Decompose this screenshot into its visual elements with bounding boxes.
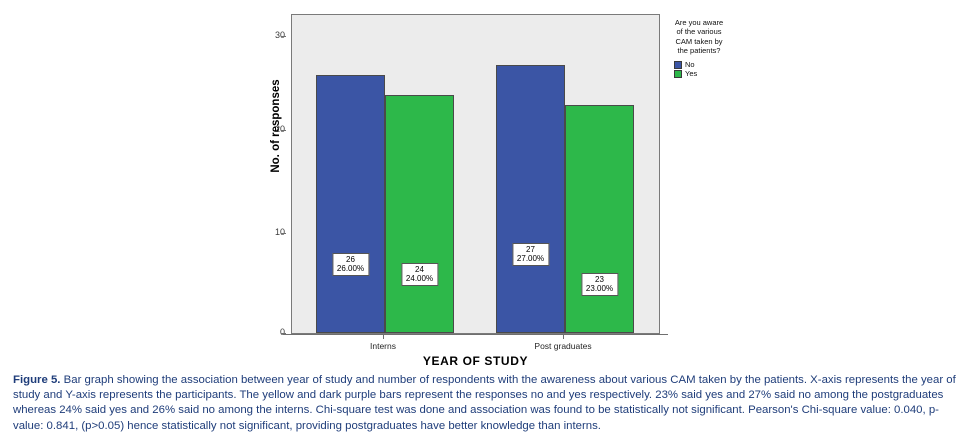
legend-item-yes[interactable]: Yes: [674, 70, 732, 78]
legend-swatch-yes-icon: [674, 70, 682, 78]
y-tick-label-30: 30: [251, 31, 285, 40]
legend-label-yes: Yes: [685, 70, 697, 78]
y-tick-mark-10: [281, 233, 286, 234]
x-axis-line: [283, 334, 668, 335]
bar-label-percent: 26.00%: [337, 264, 364, 273]
bar-label-percent: 23.00%: [586, 284, 613, 293]
bar-label-value: 24: [406, 265, 433, 274]
figure-region: No. of responses 30 20 10 0 26 26.00%: [0, 0, 970, 370]
bar-label-percent: 27.00%: [517, 254, 544, 263]
legend-title: Are you aware of the various CAM taken b…: [671, 18, 727, 56]
legend-item-no[interactable]: No: [674, 61, 732, 69]
y-tick-label-0: 0: [251, 328, 285, 337]
x-tick-mark-interns: [383, 334, 384, 339]
y-tick-mark-30: [281, 36, 286, 37]
bar-label-post-graduates-no: 27 27.00%: [512, 243, 549, 266]
y-axis-ticks: 30 20 10 0: [245, 0, 285, 370]
plot-area: 26 26.00% 24 24.00% 27 27.00%: [291, 14, 660, 334]
bar-post-graduates-yes[interactable]: 23 23.00%: [565, 105, 634, 333]
y-tick-mark-20: [281, 130, 286, 131]
bar-label-value: 27: [517, 245, 544, 254]
chart-legend: Are you aware of the various CAM taken b…: [666, 18, 732, 79]
x-tick-label-interns: Interns: [370, 341, 396, 351]
bar-group-interns: 26 26.00% 24 24.00%: [316, 15, 454, 333]
bar-label-value: 23: [586, 275, 613, 284]
bar-label-percent: 24.00%: [406, 274, 433, 283]
bar-interns-no[interactable]: 26 26.00%: [316, 75, 385, 333]
plot-inner: 26 26.00% 24 24.00% 27 27.00%: [292, 15, 659, 333]
legend-label-no: No: [685, 61, 695, 69]
figure-caption: Figure 5. Bar graph showing the associat…: [13, 373, 959, 434]
x-tick-mark-post-graduates: [563, 334, 564, 339]
bar-group-post-graduates: 27 27.00% 23 23.00%: [496, 15, 634, 333]
bar-label-interns-yes: 24 24.00%: [401, 263, 438, 286]
legend-swatch-no-icon: [674, 61, 682, 69]
x-axis-title: YEAR OF STUDY: [291, 354, 660, 368]
x-tick-label-post-graduates: Post graduates: [534, 341, 591, 351]
bar-label-value: 26: [337, 255, 364, 264]
figure-caption-label: Figure 5.: [13, 374, 60, 386]
figure-caption-text: Bar graph showing the association betwee…: [13, 374, 956, 432]
bar-label-post-graduates-yes: 23 23.00%: [581, 273, 618, 296]
bar-post-graduates-no[interactable]: 27 27.00%: [496, 65, 565, 333]
bar-label-interns-no: 26 26.00%: [332, 253, 369, 276]
y-tick-label-10: 10: [251, 228, 285, 237]
y-tick-label-20: 20: [251, 125, 285, 134]
bar-interns-yes[interactable]: 24 24.00%: [385, 95, 454, 333]
